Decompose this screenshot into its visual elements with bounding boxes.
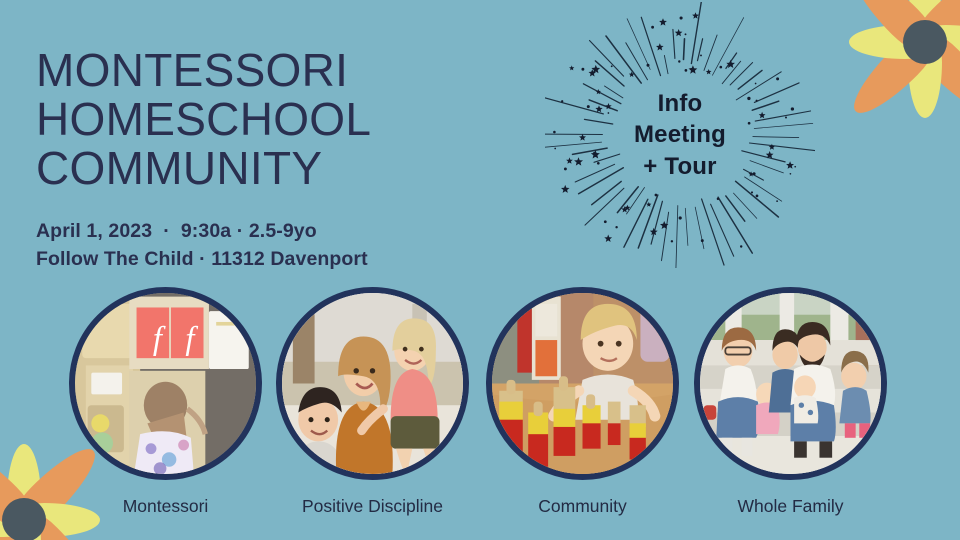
caption-montessori: Montessori [69,496,262,517]
starburst-badge: Info Meeting + Tour [545,2,815,268]
page-title: MONTESSORI HOMESCHOOL COMMUNITY [36,46,371,192]
photo-circle-whole-family [694,287,887,480]
starburst-icon [545,2,815,268]
photo-frame [276,287,469,480]
flower-center [2,498,46,540]
photo-child-letter-cards: f f [75,293,256,474]
photo-mother-and-children [282,293,463,474]
event-details-line-2: Follow The Child · 11312 Davenport [36,248,368,271]
caption-whole-family: Whole Family [694,496,887,517]
photo-circle-community [486,287,679,480]
event-details-line-1: April 1, 2023 · 9:30a · 2.5-9yo [36,220,317,243]
photo-circle-positive-discipline [276,287,469,480]
flower-center [903,20,947,64]
poster-canvas: MONTESSORI HOMESCHOOL COMMUNITY April 1,… [0,0,960,540]
photo-frame [694,287,887,480]
photo-circle-montessori: f f [69,287,262,480]
caption-positive-discipline: Positive Discipline [276,496,469,517]
photo-frame: f f [69,287,262,480]
caption-community: Community [486,496,679,517]
photo-toddler-knobbed-cylinders [492,293,673,474]
photo-frame [486,287,679,480]
photo-family-on-steps [700,293,881,474]
